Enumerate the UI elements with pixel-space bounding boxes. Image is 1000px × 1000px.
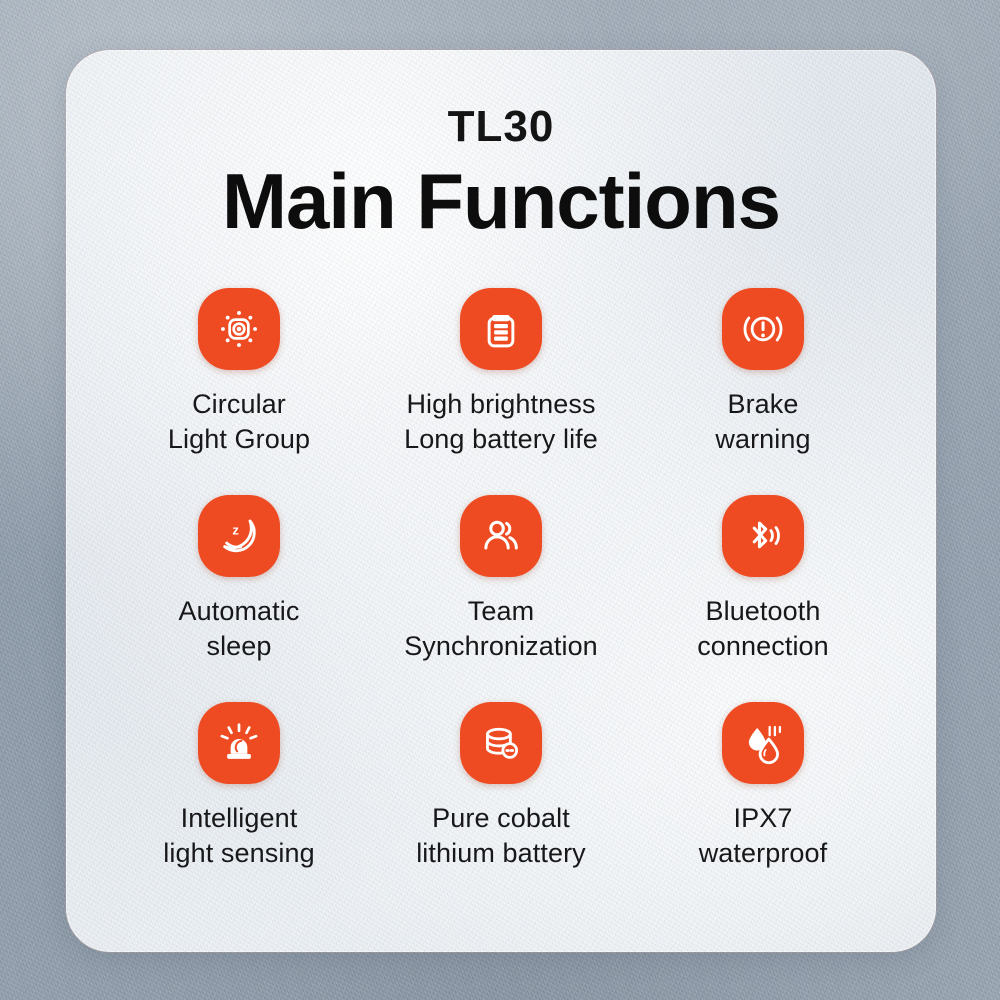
feature-label: Brake warning xyxy=(715,387,810,457)
feature-label: Automatic sleep xyxy=(179,594,300,664)
feature-label: Team Synchronization xyxy=(404,594,598,664)
icon-tile xyxy=(722,702,804,784)
title-block: TL30 Main Functions xyxy=(66,105,936,243)
waterproof-droplet-icon xyxy=(738,718,788,768)
sleep-moon-icon: z xyxy=(214,511,264,561)
page-title: Main Functions xyxy=(66,161,936,243)
feature-label: IPX7 waterproof xyxy=(699,801,828,871)
feature-label: Pure cobalt lithium battery xyxy=(416,801,586,871)
feature-label: Intelligent light sensing xyxy=(163,801,314,871)
siren-light-sensor-icon xyxy=(214,718,264,768)
feature-item-high-brightness: High brightness Long battery life xyxy=(370,288,632,457)
icon-tile xyxy=(460,702,542,784)
lithium-cell-icon xyxy=(476,718,526,768)
feature-card: TL30 Main Functions xyxy=(66,50,936,952)
icon-tile xyxy=(722,495,804,577)
icon-tile xyxy=(722,288,804,370)
icon-tile xyxy=(198,702,280,784)
feature-item-circular-light-group: Circular Light Group xyxy=(108,288,370,457)
feature-label: High brightness Long battery life xyxy=(404,387,598,457)
feature-item-automatic-sleep: z Automatic sleep xyxy=(108,495,370,664)
feature-label: Circular Light Group xyxy=(168,387,310,457)
svg-text:z: z xyxy=(232,523,239,538)
model-name: TL30 xyxy=(66,105,936,149)
infographic-page: TL30 Main Functions xyxy=(0,0,1000,1000)
feature-item-bluetooth: Bluetooth connection xyxy=(632,495,894,664)
icon-tile xyxy=(198,288,280,370)
bluetooth-icon xyxy=(738,511,788,561)
feature-grid: Circular Light Group xyxy=(108,288,894,872)
feature-item-light-sensing: Intelligent light sensing xyxy=(108,702,370,871)
team-users-icon xyxy=(476,511,526,561)
feature-item-team-synchronization: Team Synchronization xyxy=(370,495,632,664)
feature-item-waterproof: IPX7 waterproof xyxy=(632,702,894,871)
battery-icon xyxy=(476,304,526,354)
icon-tile xyxy=(460,495,542,577)
icon-tile xyxy=(460,288,542,370)
feature-label: Bluetooth connection xyxy=(697,594,829,664)
feature-item-brake-warning: Brake warning xyxy=(632,288,894,457)
icon-tile: z xyxy=(198,495,280,577)
circular-light-group-icon xyxy=(214,304,264,354)
feature-item-lithium-battery: Pure cobalt lithium battery xyxy=(370,702,632,871)
brake-warning-icon xyxy=(738,304,788,354)
